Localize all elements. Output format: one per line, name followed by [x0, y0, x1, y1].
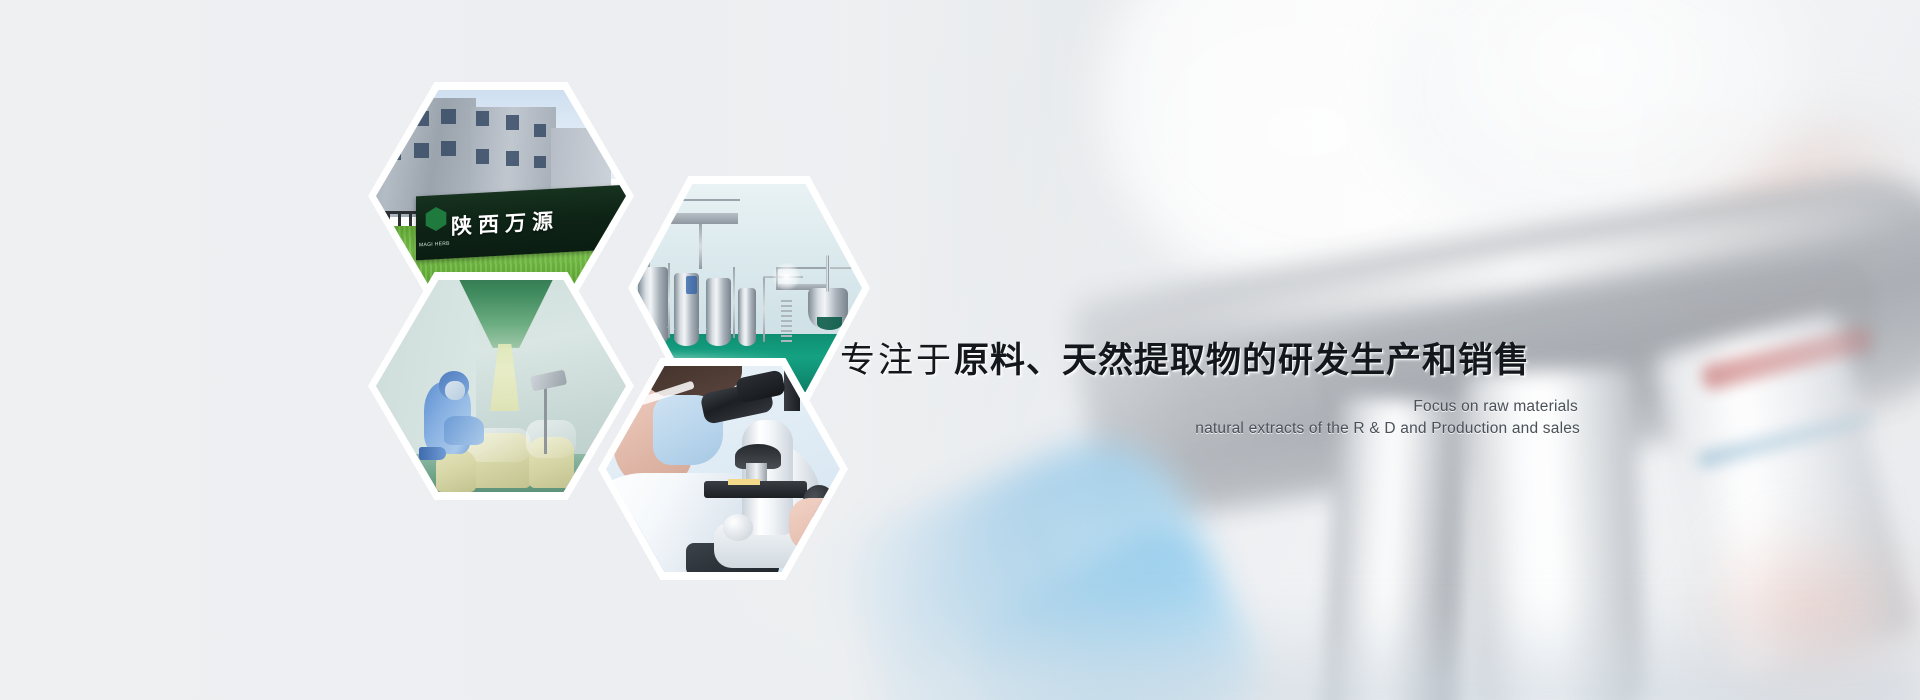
factory-window [441, 141, 456, 156]
background-blur-skin-bottom [1690, 520, 1920, 700]
factory-window [534, 124, 547, 137]
microscope-slide [728, 479, 761, 485]
plant-support [699, 224, 702, 270]
banner-subtitle-line2: natural extracts of the R & D and Produc… [840, 418, 1580, 440]
background-blur-objective-3 [1653, 312, 1917, 678]
collection-bag-liner [526, 420, 576, 458]
plant-reactor-shaft [826, 255, 829, 292]
factory-window [386, 115, 401, 130]
factory-window [476, 149, 489, 164]
banner-subtitle-line1: Focus on raw materials [840, 396, 1580, 418]
factory-window [476, 111, 489, 126]
background-blur-dome [1100, 0, 1620, 300]
background-blur-glove-secondary [948, 511, 1271, 700]
worker-arm [444, 416, 484, 446]
background-blur-bench [760, 600, 1920, 700]
factory-window [534, 156, 547, 169]
plant-tank [738, 288, 756, 334]
plant-ladder [781, 300, 792, 342]
factory-window [506, 115, 519, 130]
hero-banner: MAGI HERB 陕西万源 [0, 0, 1920, 700]
banner-headline: 专注于原料、天然提取物的研发生产和销售 [840, 340, 1580, 384]
banner-headline-lead: 专注于 [840, 341, 954, 381]
worker-shoe-cover [419, 447, 447, 460]
background-blur-objective-red-band [1699, 324, 1875, 392]
banner-headline-emphasis: 原料、天然提取物的研发生产和销售 [954, 341, 1530, 381]
background-blur-skin-top [1650, 120, 1910, 420]
bag-stand-pole [544, 382, 547, 454]
plant-reactor-bottom [817, 317, 842, 329]
background-blur-objective-blue-band [1696, 408, 1880, 470]
banner-subtitle: Focus on raw materials natural extracts … [840, 396, 1580, 441]
background-blur-ring-highlight [1112, 186, 1920, 354]
hexagon-photo-cluster: MAGI HERB 陕西万源 [0, 0, 900, 700]
background-blur-instrument [993, 521, 1133, 700]
background-blur-objective-1 [1321, 397, 1479, 700]
factory-window [414, 143, 429, 158]
plant-tank-cone [738, 332, 756, 347]
plant-pipe [733, 267, 735, 338]
background-blur-dome-secondary [1380, 0, 1800, 240]
factory-window [441, 109, 456, 124]
plant-pipe [763, 276, 765, 343]
plant-control-box [686, 276, 697, 295]
plant-pipe [668, 263, 670, 338]
plant-ceiling-light [772, 263, 801, 290]
plant-catwalk-rail [638, 199, 739, 218]
banner-copy: 专注于原料、天然提取物的研发生产和销售 Focus on raw materia… [840, 340, 1580, 441]
worker-face-mask [445, 381, 465, 400]
factory-window [506, 151, 519, 166]
plant-tank [706, 278, 731, 332]
